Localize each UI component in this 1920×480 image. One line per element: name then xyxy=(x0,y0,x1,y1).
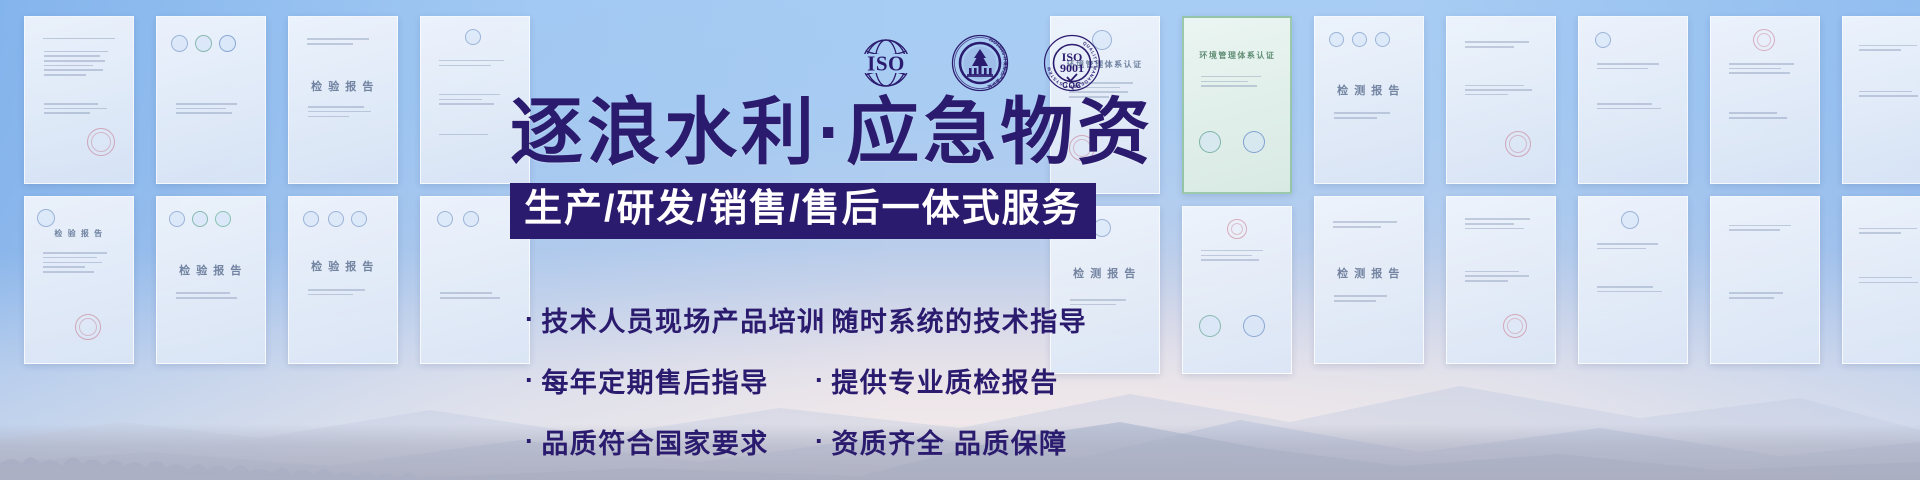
page-title: 逐浪水利·应急物资 xyxy=(510,96,1410,169)
feature-item: · 随时系统的技术指导 xyxy=(815,300,1075,339)
certificate-title: 检 验 报 告 xyxy=(305,78,382,94)
feature-item: · 资质齐全 品质保障 xyxy=(815,422,1075,461)
certificate-title: 检 验 报 告 xyxy=(305,258,382,274)
feature-label: 提供专业质检报告 xyxy=(831,361,1058,400)
certificate-card: 检 验 报 告 xyxy=(288,16,398,184)
feature-label: 每年定期售后指导 xyxy=(541,361,768,400)
iso9001-cqc-icon: QUALITY MANAGEMENT SYSTEM ISO 9001 CQC xyxy=(1043,34,1101,97)
bullet-icon: · xyxy=(815,367,825,394)
bullet-icon: · xyxy=(815,428,825,455)
feature-row: · 每年定期售后指导 · 提供专业质检报告 xyxy=(525,361,1085,400)
certification-badges: ISO ISO14000 环境标志产品认证 xyxy=(855,34,1101,97)
certificate-title: 检 验 报 告 xyxy=(173,262,250,278)
feature-label: 随时系统的技术指导 xyxy=(831,300,1087,339)
feature-row: · 品质符合国家要求 · 资质齐全 品质保障 xyxy=(525,422,1085,461)
headline-block: 逐浪水利·应急物资 生产/研发/销售/售后一体式服务 xyxy=(510,96,1410,239)
iso14000-seal-icon: ISO14000 环境标志产品认证 xyxy=(951,34,1009,97)
svg-text:ISO: ISO xyxy=(867,52,905,76)
feature-item: · 技术人员现场产品培训 xyxy=(525,300,815,339)
subtitle-bar: 生产/研发/销售/售后一体式服务 xyxy=(510,183,1096,239)
feature-list: · 技术人员现场产品培训 · 随时系统的技术指导 · 每年定期售后指导 · 提供… xyxy=(525,300,1085,461)
certificate-card xyxy=(1578,16,1688,184)
certificate-card xyxy=(1446,16,1556,184)
certificate-title: 检 测 报 告 xyxy=(1331,265,1408,281)
certificate-title: 检 验 报 告 xyxy=(41,228,118,239)
certificate-card: 检 验 报 告 xyxy=(156,196,266,364)
feature-item: · 每年定期售后指导 xyxy=(525,361,815,400)
svg-text:9001: 9001 xyxy=(1060,61,1084,75)
bullet-icon: · xyxy=(525,306,535,333)
feature-row: · 技术人员现场产品培训 · 随时系统的技术指导 xyxy=(525,300,1085,339)
certificate-card xyxy=(24,16,134,184)
bullet-icon: · xyxy=(525,428,535,455)
certificate-card xyxy=(1710,196,1820,364)
svg-text:CQC: CQC xyxy=(1062,81,1082,90)
iso-globe-icon: ISO xyxy=(855,35,917,96)
feature-label: 资质齐全 品质保障 xyxy=(831,422,1067,461)
certificate-title: 环境管理体系认证证书 xyxy=(1199,50,1274,61)
certificate-card: 检 验 报 告 xyxy=(288,196,398,364)
certificate-card xyxy=(1710,16,1820,184)
bullet-icon: · xyxy=(815,306,825,333)
feature-item: · 提供专业质检报告 xyxy=(815,361,1075,400)
bullet-icon: · xyxy=(525,367,535,394)
certificate-card xyxy=(1842,196,1920,364)
certificate-card xyxy=(1578,196,1688,364)
certificate-card: 检 验 报 告 xyxy=(24,196,134,364)
certificate-card xyxy=(1842,16,1920,184)
certificate-card xyxy=(156,16,266,184)
feature-label: 技术人员现场产品培训 xyxy=(541,300,825,339)
promo-banner: 检 验 报 告 环境管理体系认证证书 环境管理体系认证证书 xyxy=(0,0,1920,480)
feature-item: · 品质符合国家要求 xyxy=(525,422,815,461)
certificate-card xyxy=(1446,196,1556,364)
feature-label: 品质符合国家要求 xyxy=(541,422,768,461)
certificate-title: 检 测 报 告 xyxy=(1067,265,1144,281)
